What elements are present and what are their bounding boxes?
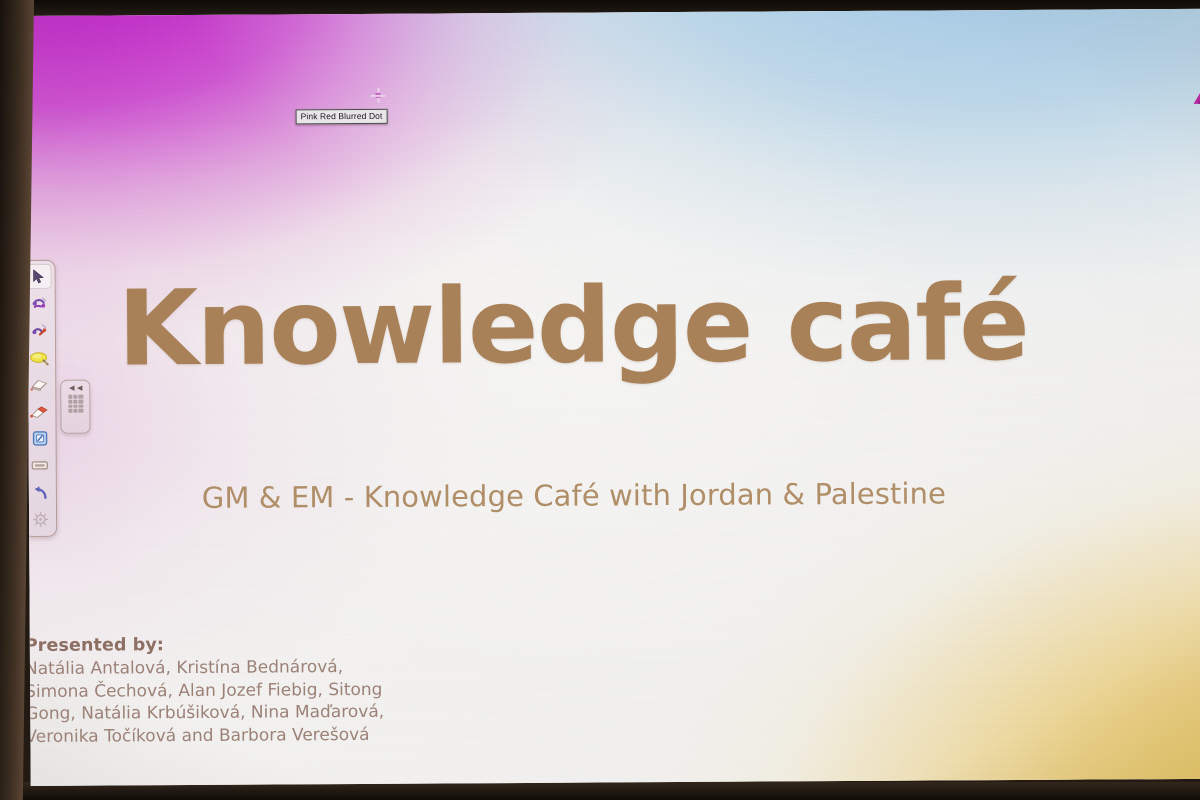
ink-scribble-icon bbox=[30, 322, 47, 339]
annotation-toolbar[interactable] bbox=[26, 260, 57, 537]
presenter-line: Gong, Natália Krbúšiková, Nina Maďarová, bbox=[26, 700, 465, 725]
triangle-logo-icon bbox=[1193, 89, 1200, 105]
slide-subtitle: GM & EM - Knowledge Café with Jordan & P… bbox=[29, 475, 1119, 516]
keypad-grid-icon[interactable] bbox=[68, 395, 83, 413]
shape-tool[interactable] bbox=[27, 453, 53, 478]
object-tooltip: Pink Red Blurred Dot bbox=[296, 109, 388, 125]
presenter-line: Simona Čechová, Alan Jozef Fiebig, Siton… bbox=[26, 678, 465, 703]
lasso-ink-icon bbox=[30, 295, 47, 312]
presenter-line: Veronika Točíková and Barbora Verešová bbox=[26, 723, 465, 748]
highlighter-tool[interactable] bbox=[26, 345, 52, 370]
eraser-icon bbox=[29, 377, 49, 392]
collapse-panel-button[interactable]: ◄◄ bbox=[67, 384, 83, 393]
brand-name-line2: Eme bbox=[1193, 122, 1200, 144]
rectangle-icon bbox=[31, 460, 49, 471]
undo-arrow-icon bbox=[31, 484, 48, 500]
ink-replay-tool[interactable] bbox=[26, 318, 52, 343]
presentation-slide: Glo Eme Knowledge café GM & EM - Knowled… bbox=[26, 9, 1200, 786]
pen-icon bbox=[29, 404, 49, 419]
presenter-names: Natália Antalová, Kristína Bednárová, Si… bbox=[26, 656, 465, 748]
settings-tool[interactable] bbox=[27, 507, 53, 532]
slide-title: Knowledge café bbox=[28, 261, 1119, 390]
toolbar-side-panel[interactable]: ◄◄ bbox=[60, 380, 90, 434]
undo-tool[interactable] bbox=[27, 480, 53, 505]
cursor-arrow-icon bbox=[32, 269, 45, 284]
pen-tool[interactable] bbox=[26, 399, 52, 424]
crosshair-cursor bbox=[370, 88, 385, 103]
brand-lockup: Glo Eme bbox=[1193, 82, 1200, 144]
projection-scene: Glo Eme Knowledge café GM & EM - Knowled… bbox=[0, 0, 1200, 800]
presenters-block: Presented by: Natália Antalová, Kristína… bbox=[26, 632, 465, 748]
eraser-tool[interactable] bbox=[26, 372, 52, 397]
highlighter-icon bbox=[29, 349, 49, 365]
presenter-line: Natália Antalová, Kristína Bednárová, bbox=[26, 656, 465, 681]
blue-stamp-icon bbox=[31, 430, 48, 447]
stamp-tool[interactable] bbox=[27, 426, 53, 451]
presented-by-label: Presented by: bbox=[26, 632, 465, 658]
gear-icon bbox=[32, 511, 49, 528]
